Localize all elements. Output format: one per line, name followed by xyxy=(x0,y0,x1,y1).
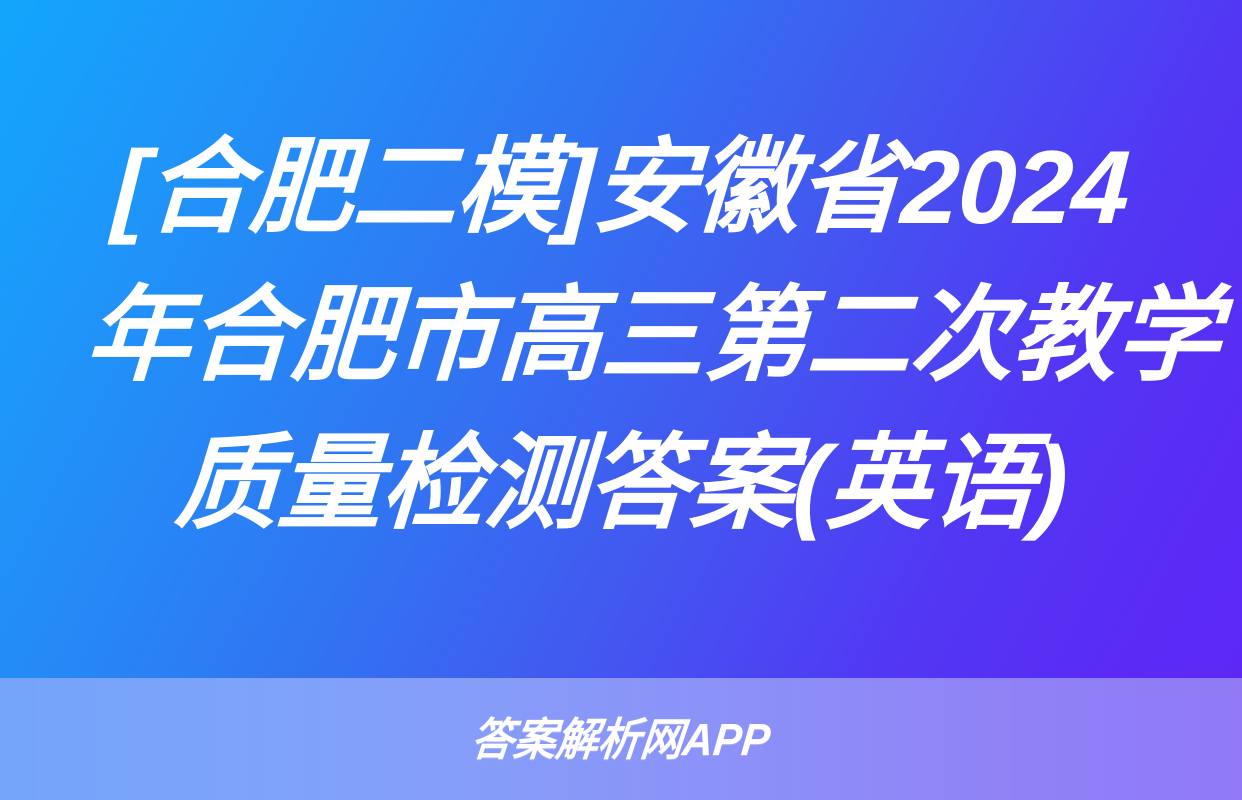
answer-cover-card: [合肥二模]安徽省2024 年合肥市高三第二次教学 质量检测答案(英语) 答案解… xyxy=(0,0,1242,800)
footer-watermark-row: 答案解析网APP xyxy=(0,678,1242,800)
page-title-line-1: [合肥二模]安徽省2024 xyxy=(82,114,1160,262)
page-title-line-3: 质量检测答案(英语) xyxy=(82,410,1160,558)
page-title-line-2: 年合肥市高三第二次教学 xyxy=(82,262,1160,410)
app-watermark: 答案解析网APP xyxy=(469,717,772,762)
page-title: [合肥二模]安徽省2024 年合肥市高三第二次教学 质量检测答案(英语) xyxy=(0,0,1242,678)
